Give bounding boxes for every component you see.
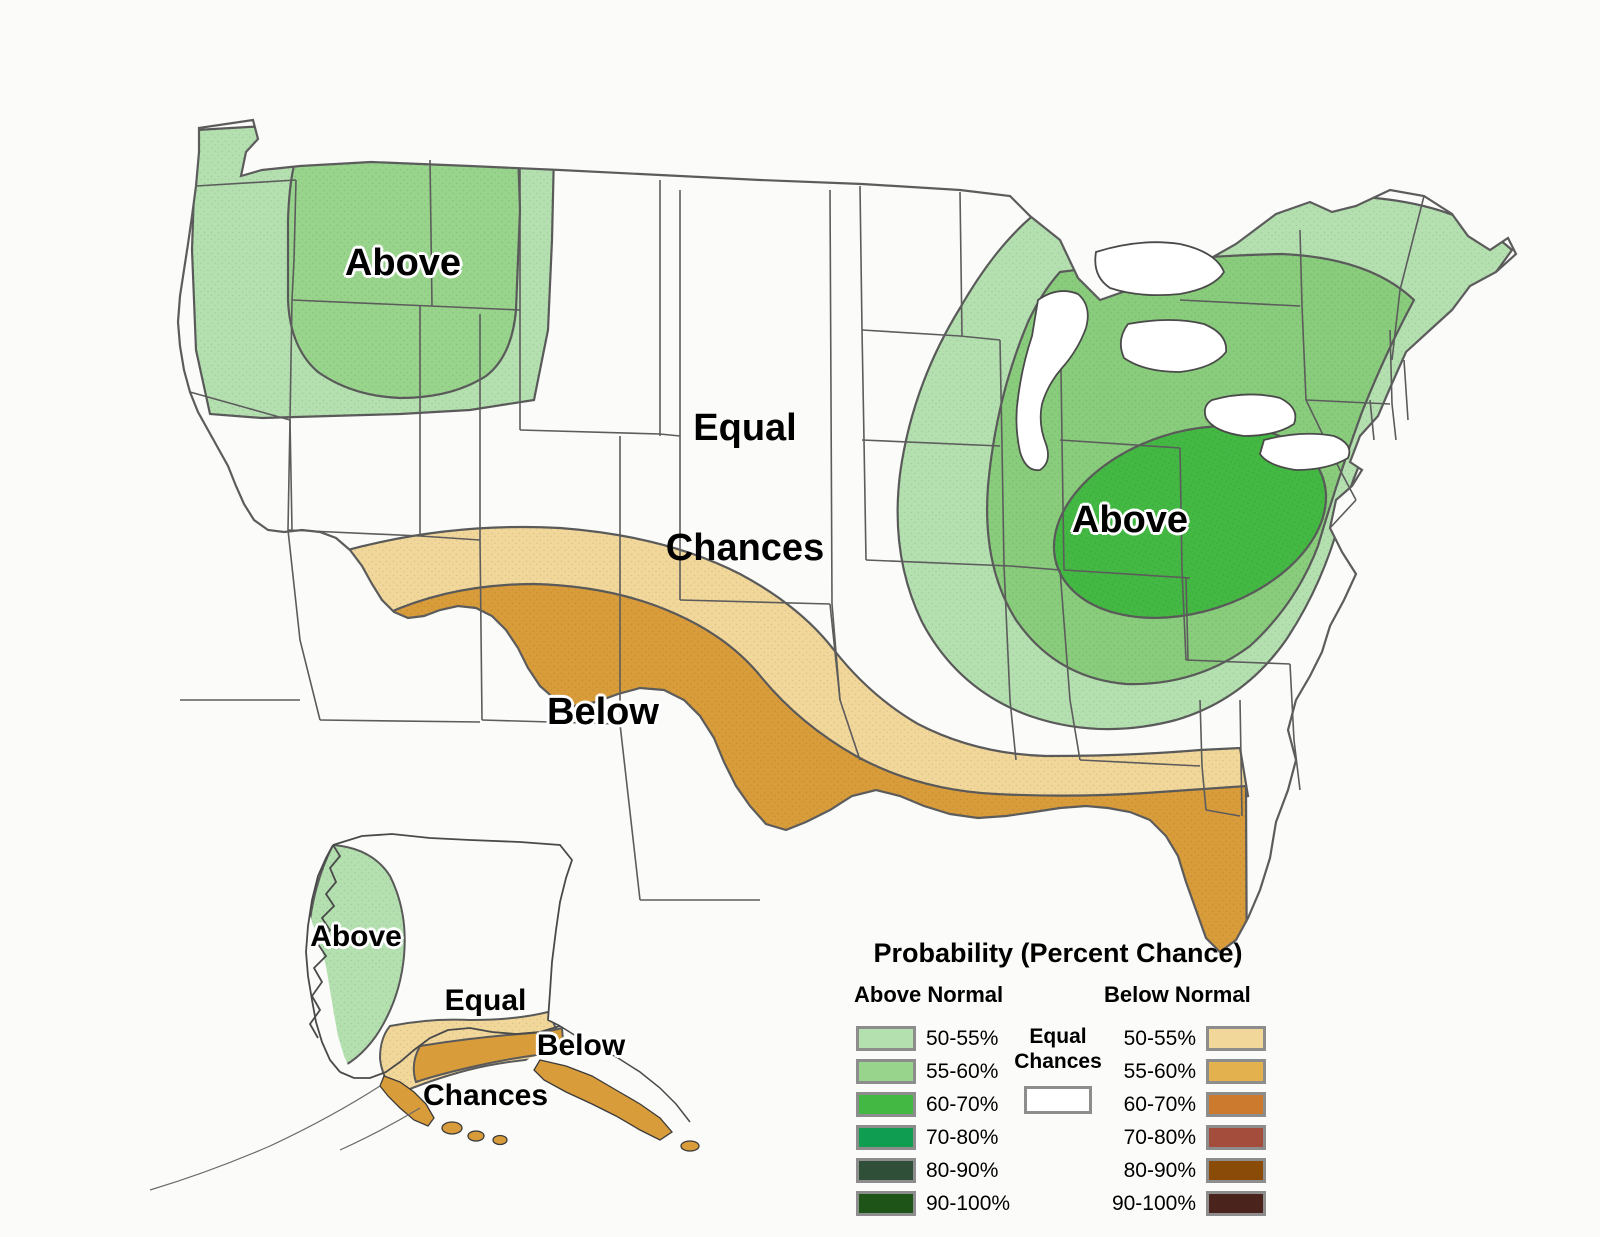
legend-swatch-below-1 (1206, 1059, 1266, 1084)
map-label-east-above: Above (1062, 500, 1198, 540)
legend-label-below-5: 90-100% (1112, 1192, 1196, 1216)
map-label-south-below: Below (538, 692, 668, 732)
legend-title: Probability (Percent Chance) (848, 938, 1268, 969)
legend-swatch-below-3 (1206, 1125, 1266, 1150)
legend-row-below-0: 50-55% (1080, 1026, 1266, 1053)
legend: Probability (Percent Chance) Above Norma… (848, 938, 1268, 1228)
legend-label-below-2: 60-70% (1124, 1093, 1196, 1117)
legend-swatch-above-4 (856, 1158, 916, 1183)
legend-swatch-below-4 (1206, 1158, 1266, 1183)
legend-swatch-above-0 (856, 1026, 916, 1051)
legend-row-below-4: 80-90% (1080, 1158, 1266, 1185)
legend-label-above-2: 60-70% (926, 1093, 998, 1117)
map-label-alaska-above: Above (305, 921, 407, 953)
legend-row-below-1: 55-60% (1080, 1059, 1266, 1086)
equal-line1: Equal (650, 408, 840, 448)
ak-equal-line1: Equal (408, 985, 563, 1017)
legend-swatch-above-2 (856, 1092, 916, 1117)
map-label-central-equal-chances: Equal Chances (650, 327, 840, 649)
legend-row-below-5: 90-100% (1080, 1191, 1266, 1218)
legend-above-heading: Above Normal (854, 982, 1003, 1008)
legend-label-above-4: 80-90% (926, 1159, 998, 1183)
legend-label-below-1: 55-60% (1124, 1060, 1196, 1084)
legend-swatch-below-5 (1206, 1191, 1266, 1216)
legend-row-below-3: 70-80% (1080, 1125, 1266, 1152)
legend-label-above-5: 90-100% (926, 1192, 1010, 1216)
legend-swatch-below-0 (1206, 1026, 1266, 1051)
legend-below-heading: Below Normal (1104, 982, 1251, 1008)
legend-label-above-1: 55-60% (926, 1060, 998, 1084)
ak-equal-line2: Chances (408, 1080, 563, 1112)
legend-label-below-4: 80-90% (1124, 1159, 1196, 1183)
legend-label-above-3: 70-80% (926, 1126, 998, 1150)
legend-label-below-0: 50-55% (1124, 1027, 1196, 1051)
legend-swatch-above-3 (856, 1125, 916, 1150)
legend-label-above-0: 50-55% (926, 1027, 998, 1051)
equal-line2: Chances (650, 528, 840, 568)
legend-label-below-3: 70-80% (1124, 1126, 1196, 1150)
map-label-northwest-above: Above (335, 243, 471, 283)
legend-swatch-above-5 (856, 1191, 916, 1216)
precipitation-outlook-page: D E P A R T M E N T O F U N I T E D S T (0, 0, 1600, 1237)
legend-swatch-below-2 (1206, 1092, 1266, 1117)
legend-swatch-above-1 (856, 1059, 916, 1084)
map-label-alaska-below: Below (530, 1030, 632, 1062)
legend-row-below-2: 60-70% (1080, 1092, 1266, 1119)
